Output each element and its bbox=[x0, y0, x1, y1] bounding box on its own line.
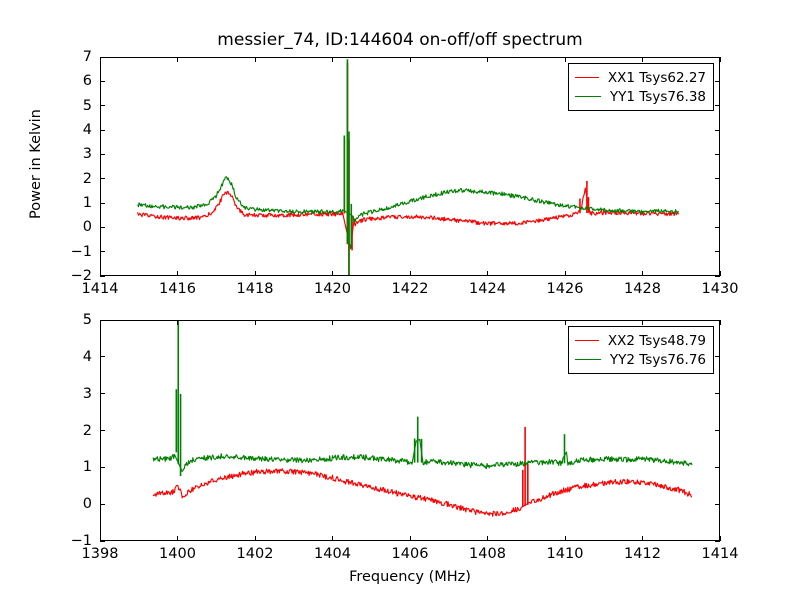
legend-entry: YY1 Tsys76.38 bbox=[575, 87, 706, 106]
x-tick-label: 1410 bbox=[547, 546, 584, 562]
x-tick-mark bbox=[332, 271, 333, 276]
y-tick-label: 7 bbox=[54, 49, 92, 65]
x-tick-mark bbox=[255, 57, 256, 62]
figure-title: messier_74, ID:144604 on-off/off spectru… bbox=[0, 30, 800, 50]
x-tick-mark bbox=[332, 536, 333, 541]
y-tick-mark bbox=[100, 393, 105, 394]
y-tick-label: 1 bbox=[54, 459, 92, 475]
y-tick-mark bbox=[100, 276, 105, 277]
y-tick-label: 3 bbox=[54, 386, 92, 402]
x-tick-label: 1404 bbox=[314, 546, 351, 562]
x-tick-mark bbox=[720, 271, 721, 276]
bottom-legend: XX2 Tsys48.79YY2 Tsys76.76 bbox=[568, 326, 714, 374]
x-tick-mark bbox=[410, 271, 411, 276]
x-tick-label: 1414 bbox=[82, 281, 119, 297]
y-tick-mark bbox=[715, 203, 720, 204]
y-tick-mark bbox=[100, 541, 105, 542]
top-legend: XX1 Tsys62.27YY1 Tsys76.38 bbox=[568, 63, 714, 111]
legend-line-swatch bbox=[575, 359, 601, 360]
x-tick-label: 1420 bbox=[314, 281, 351, 297]
x-tick-mark bbox=[255, 536, 256, 541]
x-tick-mark bbox=[487, 536, 488, 541]
x-tick-mark bbox=[642, 536, 643, 541]
y-tick-mark bbox=[100, 130, 105, 131]
figure-canvas: messier_74, ID:144604 on-off/off spectru… bbox=[0, 0, 800, 600]
y-tick-mark bbox=[100, 178, 105, 179]
y-tick-label: −1 bbox=[54, 244, 92, 260]
spectrum-trace bbox=[138, 188, 679, 249]
y-tick-label: 4 bbox=[54, 122, 92, 138]
y-tick-mark bbox=[100, 430, 105, 431]
x-tick-mark bbox=[100, 320, 101, 325]
y-tick-mark bbox=[715, 251, 720, 252]
y-tick-mark bbox=[100, 81, 105, 82]
x-tick-mark bbox=[410, 320, 411, 325]
x-tick-label: 1424 bbox=[469, 281, 506, 297]
y-tick-mark bbox=[715, 130, 720, 131]
spectrum-trace bbox=[153, 469, 692, 517]
y-tick-label: 0 bbox=[54, 496, 92, 512]
x-tick-label: 1416 bbox=[159, 281, 196, 297]
x-tick-label: 1412 bbox=[624, 546, 661, 562]
y-tick-mark bbox=[100, 227, 105, 228]
x-tick-mark bbox=[255, 271, 256, 276]
x-tick-mark bbox=[565, 57, 566, 62]
y-tick-mark bbox=[715, 356, 720, 357]
legend-label: XX1 Tsys62.27 bbox=[608, 70, 706, 86]
x-tick-mark bbox=[410, 57, 411, 62]
x-tick-mark bbox=[720, 536, 721, 541]
y-tick-mark bbox=[100, 251, 105, 252]
x-tick-mark bbox=[565, 320, 566, 325]
x-tick-mark bbox=[642, 57, 643, 62]
y-tick-mark bbox=[100, 105, 105, 106]
x-tick-label: 1428 bbox=[624, 281, 661, 297]
x-tick-mark bbox=[177, 271, 178, 276]
x-tick-label: 1398 bbox=[82, 546, 119, 562]
y-tick-label: 1 bbox=[54, 195, 92, 211]
x-tick-mark bbox=[720, 320, 721, 325]
y-tick-label: 5 bbox=[54, 98, 92, 114]
spectrum-trace bbox=[153, 439, 692, 471]
legend-label: YY2 Tsys76.76 bbox=[610, 352, 706, 368]
x-tick-label: 1430 bbox=[702, 281, 739, 297]
y-tick-mark bbox=[715, 105, 720, 106]
x-tick-label: 1402 bbox=[237, 546, 274, 562]
x-tick-label: 1400 bbox=[159, 546, 196, 562]
y-tick-label: 3 bbox=[54, 146, 92, 162]
y-tick-label: 5 bbox=[54, 312, 92, 328]
y-tick-mark bbox=[715, 504, 720, 505]
x-tick-mark bbox=[332, 57, 333, 62]
y-tick-mark bbox=[715, 81, 720, 82]
y-tick-mark bbox=[715, 178, 720, 179]
x-tick-mark bbox=[487, 320, 488, 325]
legend-line-swatch bbox=[575, 340, 599, 341]
x-tick-mark bbox=[177, 57, 178, 62]
y-tick-label: 2 bbox=[54, 423, 92, 439]
x-tick-mark bbox=[177, 536, 178, 541]
y-tick-label: 4 bbox=[54, 349, 92, 365]
y-tick-label: 2 bbox=[54, 171, 92, 187]
x-tick-mark bbox=[487, 271, 488, 276]
x-tick-mark bbox=[332, 320, 333, 325]
x-tick-mark bbox=[410, 536, 411, 541]
y-tick-label: 0 bbox=[54, 219, 92, 235]
x-tick-label: 1422 bbox=[392, 281, 429, 297]
y-tick-mark bbox=[715, 154, 720, 155]
x-tick-label: 1408 bbox=[469, 546, 506, 562]
y-tick-label: 6 bbox=[54, 73, 92, 89]
x-tick-mark bbox=[177, 320, 178, 325]
y-tick-mark bbox=[715, 430, 720, 431]
y-tick-mark bbox=[715, 467, 720, 468]
legend-line-swatch bbox=[575, 77, 599, 78]
bottom-x-axis-label: Frequency (MHz) bbox=[100, 569, 720, 585]
y-tick-mark bbox=[100, 356, 105, 357]
y-tick-mark bbox=[100, 467, 105, 468]
legend-entry: XX1 Tsys62.27 bbox=[575, 68, 706, 87]
x-tick-mark bbox=[487, 57, 488, 62]
y-tick-mark bbox=[100, 154, 105, 155]
x-tick-mark bbox=[642, 271, 643, 276]
y-tick-mark bbox=[100, 320, 105, 321]
x-tick-label: 1426 bbox=[547, 281, 584, 297]
x-tick-mark bbox=[565, 536, 566, 541]
x-tick-mark bbox=[100, 57, 101, 62]
top-y-axis-label: Power in Kelvin bbox=[28, 109, 44, 219]
y-tick-mark bbox=[100, 57, 105, 58]
legend-label: XX2 Tsys48.79 bbox=[608, 333, 706, 349]
y-tick-mark bbox=[100, 504, 105, 505]
legend-entry: YY2 Tsys76.76 bbox=[575, 350, 706, 369]
x-tick-mark bbox=[100, 271, 101, 276]
x-tick-mark bbox=[565, 271, 566, 276]
x-tick-mark bbox=[255, 320, 256, 325]
y-tick-mark bbox=[100, 203, 105, 204]
x-tick-mark bbox=[100, 536, 101, 541]
legend-entry: XX2 Tsys48.79 bbox=[575, 331, 706, 350]
x-tick-mark bbox=[642, 320, 643, 325]
y-tick-mark bbox=[715, 227, 720, 228]
x-tick-label: 1414 bbox=[702, 546, 739, 562]
x-tick-label: 1418 bbox=[237, 281, 274, 297]
y-tick-mark bbox=[715, 393, 720, 394]
legend-line-swatch bbox=[575, 96, 601, 97]
legend-label: YY1 Tsys76.38 bbox=[610, 89, 706, 105]
x-tick-label: 1406 bbox=[392, 546, 429, 562]
x-tick-mark bbox=[720, 57, 721, 62]
